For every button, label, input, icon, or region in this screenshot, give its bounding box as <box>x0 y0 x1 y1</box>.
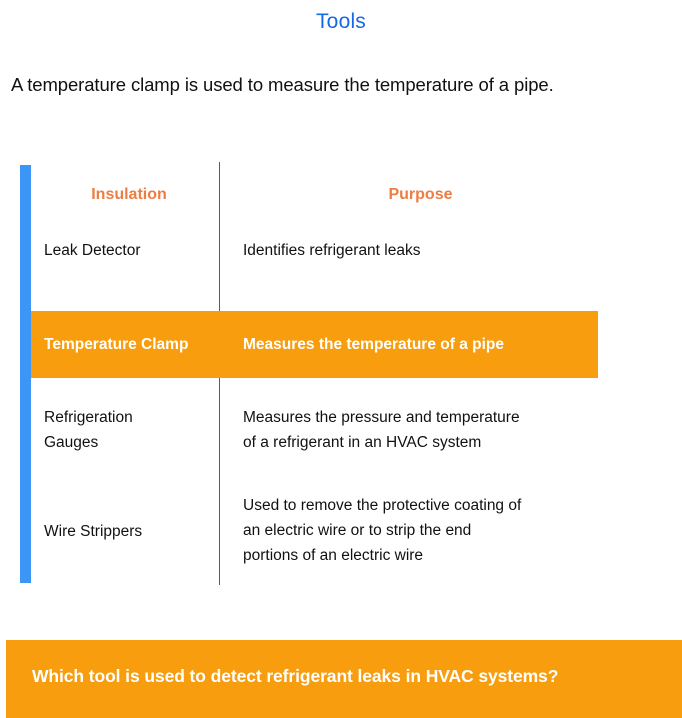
tool-name: Temperature Clamp <box>44 332 214 357</box>
tool-purpose-line: Measures the pressure and temperature <box>243 405 643 430</box>
tool-name: Wire Strippers <box>44 519 214 544</box>
tool-name-line: Gauges <box>44 430 214 455</box>
tool-name-line: Refrigeration <box>44 405 214 430</box>
column-header-purpose: Purpose <box>243 182 598 207</box>
tools-table: Insulation Purpose Leak Detector Identif… <box>0 160 682 588</box>
question-banner: Which tool is used to detect refrigerant… <box>6 640 682 718</box>
tool-name: Leak Detector <box>44 238 214 263</box>
tool-purpose: Measures the pressure and temperature of… <box>243 405 643 455</box>
tool-purpose: Used to remove the protective coating of… <box>243 493 643 568</box>
tool-purpose: Measures the temperature of a pipe <box>243 332 643 357</box>
tool-name: Refrigeration Gauges <box>44 405 214 455</box>
question-text: Which tool is used to detect refrigerant… <box>32 666 672 687</box>
tool-purpose-line: of a refrigerant in an HVAC system <box>243 430 643 455</box>
tool-purpose: Identifies refrigerant leaks <box>243 238 643 263</box>
page-title: Tools <box>0 10 682 34</box>
lead-sentence: A temperature clamp is used to measure t… <box>11 74 675 96</box>
table-row-highlighted[interactable]: Temperature Clamp Measures the temperatu… <box>0 311 682 378</box>
table-row[interactable]: Leak Detector Identifies refrigerant lea… <box>0 238 682 298</box>
tool-purpose-line: Used to remove the protective coating of <box>243 493 643 518</box>
column-header-insulation: Insulation <box>44 182 214 207</box>
table-row[interactable]: Refrigeration Gauges Measures the pressu… <box>0 405 682 465</box>
tool-purpose-line: an electric wire or to strip the end <box>243 518 643 543</box>
table-row[interactable]: Wire Strippers Used to remove the protec… <box>0 493 682 579</box>
table-header-row: Insulation Purpose <box>0 182 682 212</box>
tool-purpose-line: portions of an electric wire <box>243 543 643 568</box>
